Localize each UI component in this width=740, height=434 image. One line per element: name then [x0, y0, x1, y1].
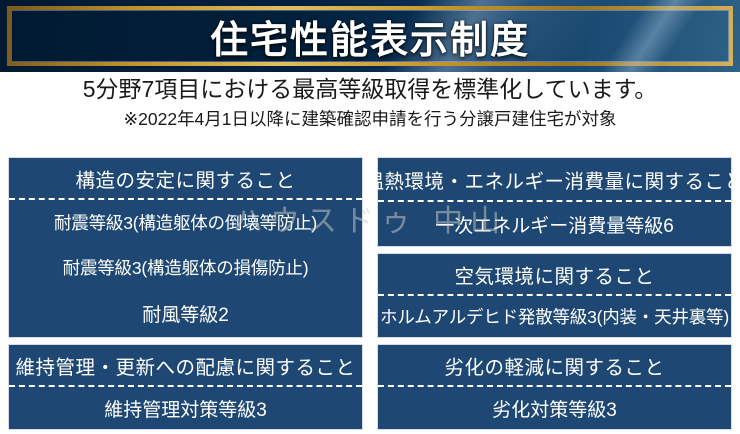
- table-right-column: 温熱環境・エネルギー消費量に関すること 一次エネルギー消費量等級6 空気環境に関…: [377, 157, 732, 430]
- right-group-2-header: 空気環境に関すること: [378, 254, 731, 296]
- right-group-3-item-1: 劣化対策等級3: [378, 387, 731, 429]
- left-group-1-item-2: 耐震等級3(構造躯体の損傷防止): [9, 245, 362, 290]
- left-group-2-header: 維持管理・更新への配慮に関すること: [9, 345, 362, 387]
- right-group-1: 温熱環境・エネルギー消費量に関すること 一次エネルギー消費量等級6: [377, 157, 732, 247]
- left-group-2: 維持管理・更新への配慮に関すること 維持管理対策等級3: [8, 344, 363, 430]
- right-group-1-header: 温熱環境・エネルギー消費量に関すること: [378, 158, 731, 202]
- subtitle-main-text: 5分野7項目における最高等級取得を標準化しています。: [0, 74, 740, 104]
- table-left-column: 構造の安定に関すること 耐震等級3(構造躯体の倒壊等防止) 耐震等級3(構造躯体…: [8, 157, 363, 430]
- right-group-2: 空気環境に関すること ホルムアルデヒド発散等級3(内装・天井裏等): [377, 253, 732, 338]
- left-group-1-item-3: 耐風等級2: [9, 290, 362, 337]
- subtitle-block: 5分野7項目における最高等級取得を標準化しています。 ※2022年4月1日以降に…: [0, 74, 740, 132]
- left-group-2-item-1: 維持管理対策等級3: [9, 387, 362, 429]
- left-group-1: 構造の安定に関すること 耐震等級3(構造躯体の倒壊等防止) 耐震等級3(構造躯体…: [8, 157, 363, 338]
- left-group-1-item-1: 耐震等級3(構造躯体の倒壊等防止): [9, 200, 362, 245]
- right-group-2-item-1: ホルムアルデヒド発散等級3(内装・天井裏等): [378, 296, 731, 337]
- left-group-1-header: 構造の安定に関すること: [9, 158, 362, 200]
- right-group-3: 劣化の軽減に関すること 劣化対策等級3: [377, 344, 732, 430]
- page-title: 住宅性能表示制度: [0, 0, 740, 72]
- subtitle-note-text: ※2022年4月1日以降に建築確認申請を行う分譲戸建住宅が対象: [0, 106, 740, 132]
- right-group-1-item-1: 一次エネルギー消費量等級6: [378, 202, 731, 246]
- performance-table: 構造の安定に関すること 耐震等級3(構造躯体の倒壊等防止) 耐震等級3(構造躯体…: [8, 157, 732, 430]
- right-group-3-header: 劣化の軽減に関すること: [378, 345, 731, 387]
- header-banner: 住宅性能表示制度: [0, 0, 740, 72]
